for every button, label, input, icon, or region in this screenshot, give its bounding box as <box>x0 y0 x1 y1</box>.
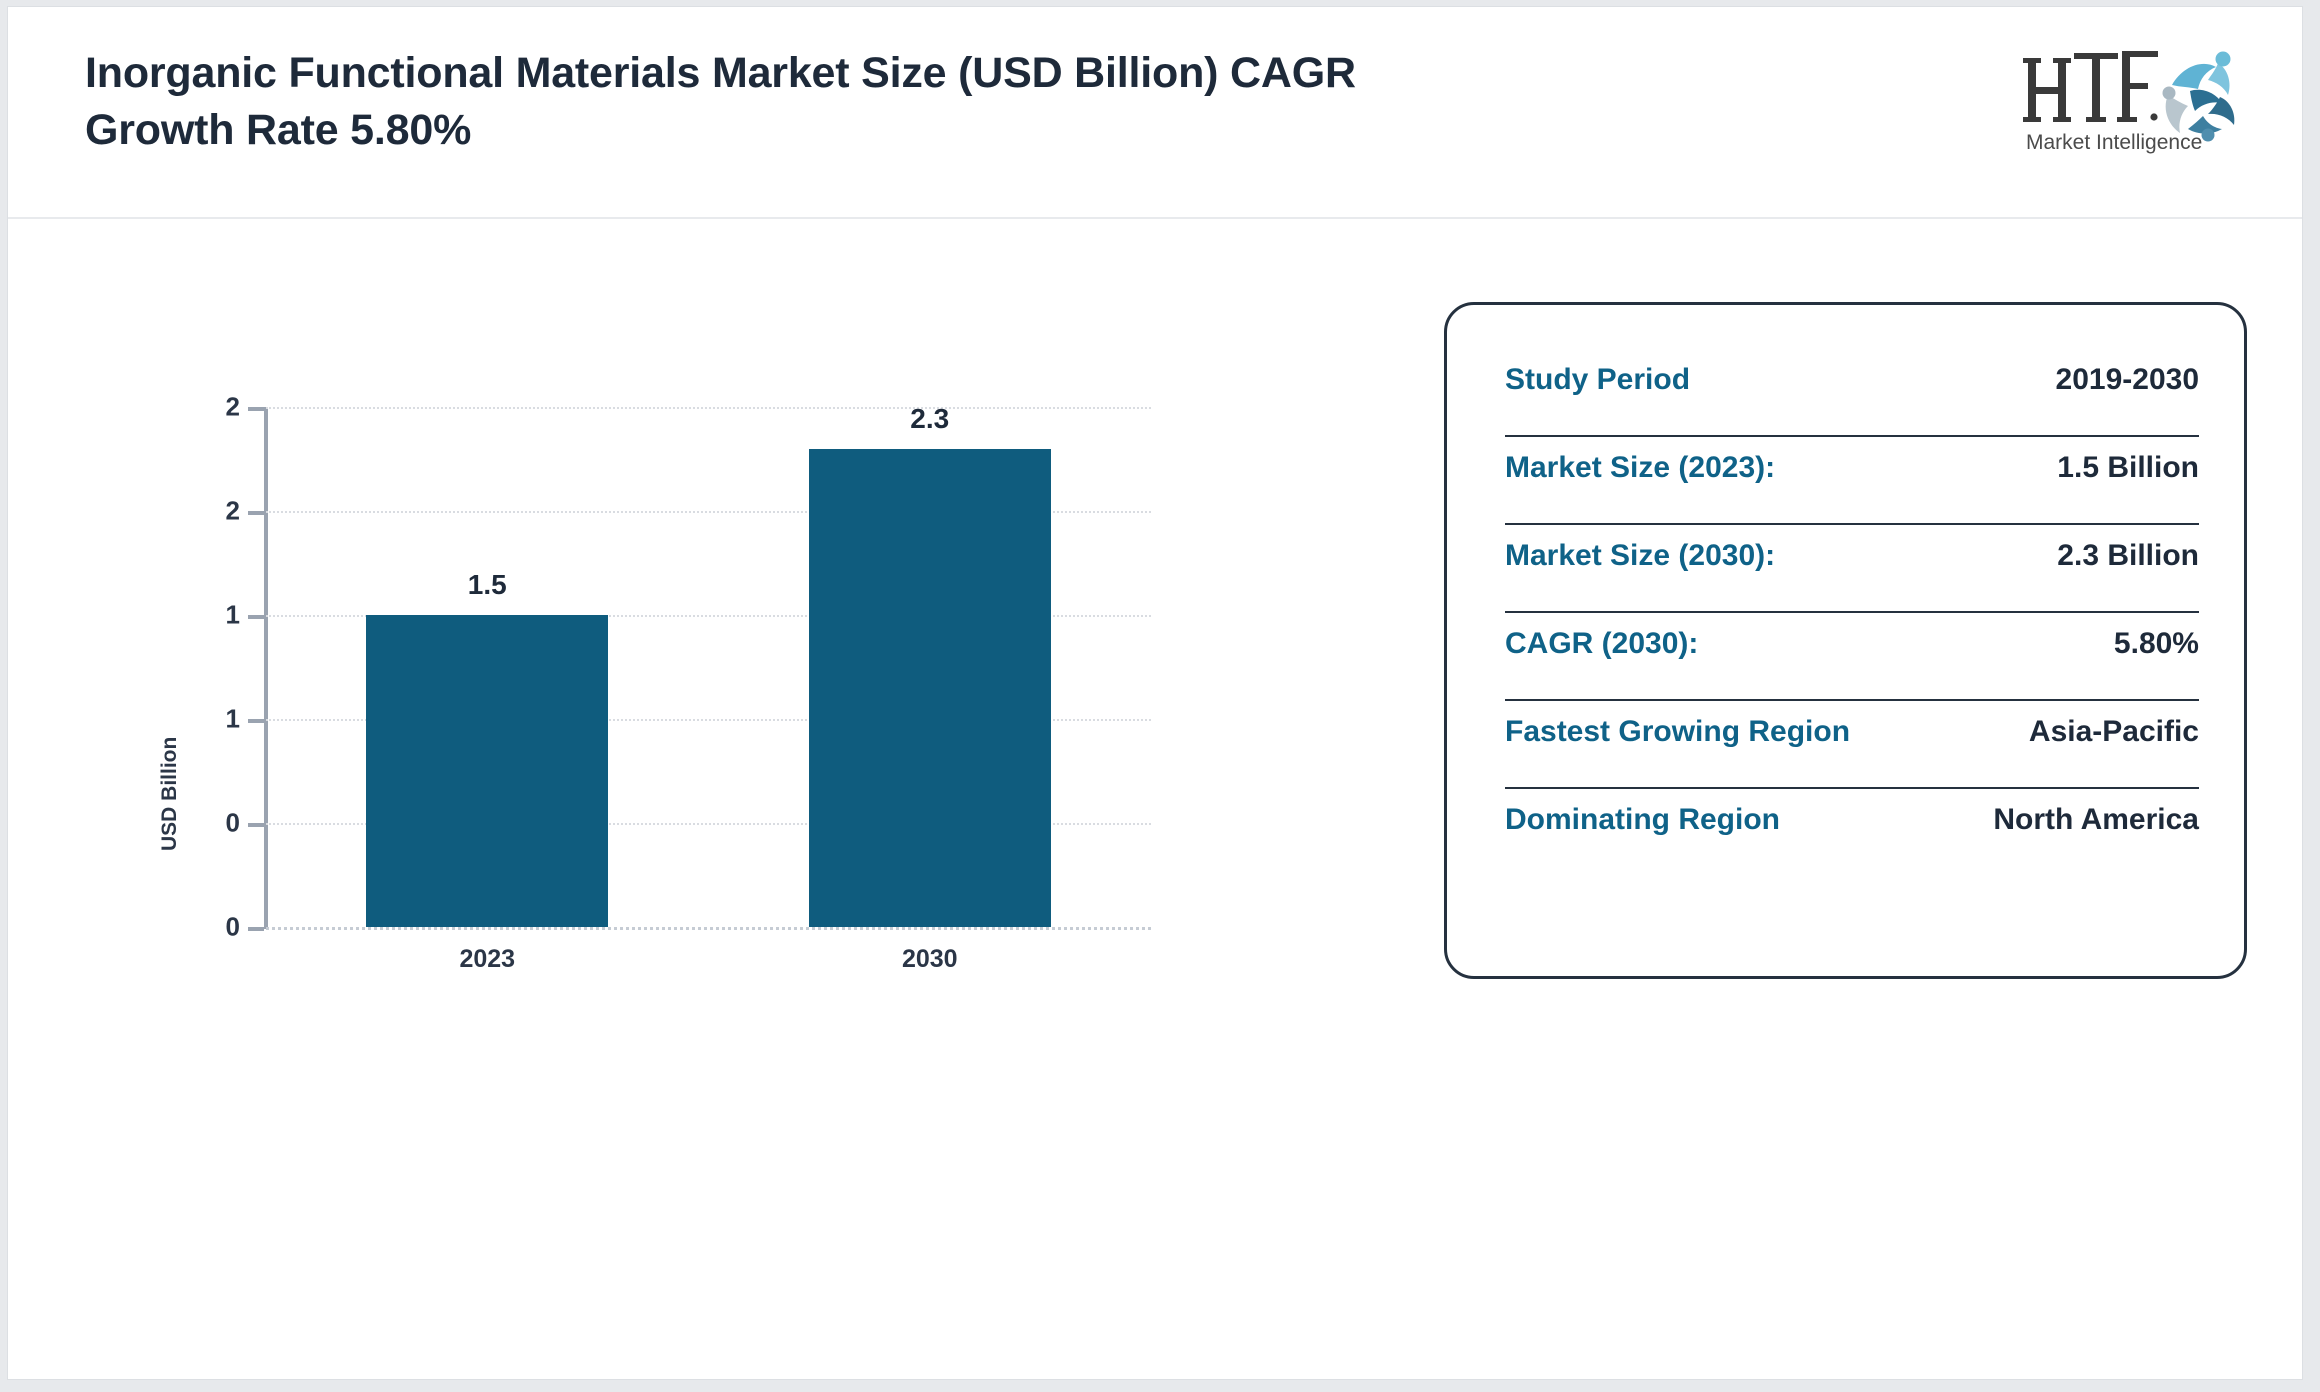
summary-row-value: 2.3 Billion <box>2057 539 2199 573</box>
htf-market-intelligence-logo: Market Intelligence <box>2022 37 2240 159</box>
y-axis-tick-mark <box>248 511 264 515</box>
y-axis-tick-label: 1 <box>226 600 240 631</box>
bar-2030[interactable]: 2.3 <box>809 449 1051 927</box>
summary-row-label: CAGR (2030): <box>1505 627 1698 661</box>
market-summary-panel: Study Period2019-2030Market Size (2023):… <box>1444 302 2247 979</box>
x-axis-tick-label: 2030 <box>902 945 958 974</box>
row-spacer <box>1505 701 2199 715</box>
row-spacer <box>1505 525 2199 539</box>
summary-row: Dominating RegionNorth America <box>1505 803 2199 877</box>
row-spacer <box>1505 437 2199 451</box>
summary-row-label: Market Size (2030): <box>1505 539 1775 573</box>
row-spacer <box>1505 613 2199 627</box>
bar-chart: USD Billion 2211001.520232.32030 <box>8 219 1388 1381</box>
row-spacer <box>1505 789 2199 803</box>
summary-row: Fastest Growing RegionAsia-Pacific <box>1505 715 2199 789</box>
y-axis-tick-label: 0 <box>226 808 240 839</box>
logo-tagline-text: Market Intelligence <box>2026 131 2202 154</box>
summary-row-value: 5.80% <box>2114 627 2199 661</box>
summary-row: CAGR (2030):5.80% <box>1505 627 2199 701</box>
summary-row-value: Asia-Pacific <box>2029 715 2199 749</box>
gridline <box>266 927 1151 930</box>
summary-row: Market Size (2023):1.5 Billion <box>1505 451 2199 525</box>
plot-area: 2211001.520232.32030 <box>266 407 1151 927</box>
content-card: Inorganic Functional Materials Market Si… <box>7 6 2303 1380</box>
market-summary-rows: Study Period2019-2030Market Size (2023):… <box>1505 363 2199 877</box>
page-title: Inorganic Functional Materials Market Si… <box>85 45 1485 159</box>
summary-row-label: Study Period <box>1505 363 1690 397</box>
summary-row: Study Period2019-2030 <box>1505 363 2199 437</box>
summary-row: Market Size (2030):2.3 Billion <box>1505 539 2199 613</box>
y-axis-tick-mark <box>248 719 264 723</box>
y-axis-tick-mark <box>248 823 264 827</box>
summary-row-value: 2019-2030 <box>2056 363 2199 397</box>
y-axis-tick-label: 1 <box>226 704 240 735</box>
summary-row-label: Market Size (2023): <box>1505 451 1775 485</box>
logo-emblem-icon <box>2163 52 2235 142</box>
header-bar: Inorganic Functional Materials Market Si… <box>8 7 2302 219</box>
logo-artwork: Market Intelligence <box>2022 37 2240 159</box>
summary-row-label: Dominating Region <box>1505 803 1780 837</box>
y-axis-tick-mark <box>248 927 264 931</box>
summary-row-label: Fastest Growing Region <box>1505 715 1850 749</box>
summary-row-value: 1.5 Billion <box>2057 451 2199 485</box>
x-axis-tick-label: 2023 <box>459 945 515 974</box>
y-axis-title: USD Billion <box>158 811 182 851</box>
y-axis-tick-mark <box>248 615 264 619</box>
summary-row-value: North America <box>1993 803 2199 837</box>
y-axis-tick-label: 2 <box>226 392 240 423</box>
page-root: Inorganic Functional Materials Market Si… <box>0 0 2320 1392</box>
bar-2023[interactable]: 1.5 <box>366 615 608 927</box>
y-axis-tick-mark <box>248 407 264 411</box>
y-axis-tick-label: 2 <box>226 496 240 527</box>
logo-wordmark-icon <box>2023 51 2158 122</box>
y-axis-tick-label: 0 <box>226 912 240 943</box>
bar-value-label: 1.5 <box>468 569 507 601</box>
bar-value-label: 2.3 <box>910 403 949 435</box>
gridline <box>266 407 1151 409</box>
